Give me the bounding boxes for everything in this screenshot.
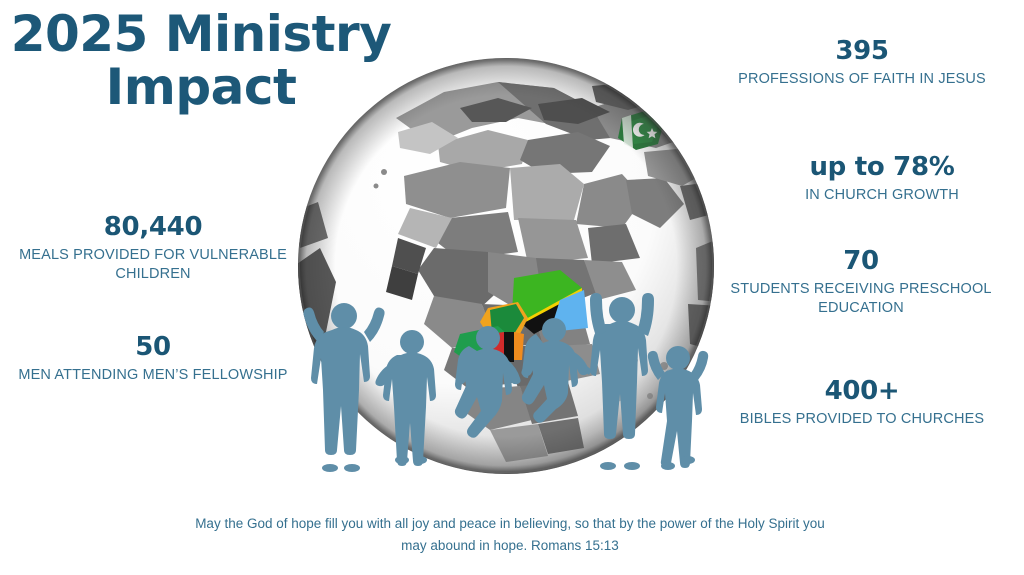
- scripture-verse: May the God of hope fill you with all jo…: [182, 513, 838, 557]
- stat-label: MEALS PROVIDED FOR VULNERABLE CHILDREN: [0, 246, 306, 285]
- stat-preschool-students: 70 STUDENTS RECEIVING PRESCHOOL EDUCATIO…: [698, 246, 1024, 319]
- silhouette-figure-2: [375, 330, 436, 466]
- stat-value: 50: [0, 332, 306, 363]
- silhouette-figure-1: [303, 303, 384, 472]
- stat-label: MEN ATTENDING MEN’S FELLOWSHIP: [0, 366, 306, 386]
- stat-church-growth: up to 78% IN CHURCH GROWTH: [740, 152, 1024, 205]
- stat-professions-of-faith: 395 PROFESSIONS OF FAITH IN JESUS: [700, 36, 1024, 89]
- page-title: 2025 Ministry Impact: [6, 8, 396, 114]
- silhouette-figure-3: [455, 326, 521, 438]
- stat-label: IN CHURCH GROWTH: [740, 186, 1024, 206]
- stat-bibles-provided: 400+ BIBLES PROVIDED TO CHURCHES: [700, 376, 1024, 429]
- silhouette-figure-5: [590, 293, 654, 470]
- stat-label: BIBLES PROVIDED TO CHURCHES: [700, 410, 1024, 430]
- stat-value: 80,440: [0, 212, 306, 243]
- stat-label: PROFESSIONS OF FAITH IN JESUS: [700, 70, 1024, 90]
- stat-value: 70: [698, 246, 1024, 277]
- ministry-impact-infographic: 2025 Ministry Impact 395 PROFESSIONS OF …: [0, 0, 1024, 575]
- page-title-line-2: Impact: [6, 61, 396, 114]
- stat-meals-provided: 80,440 MEALS PROVIDED FOR VULNERABLE CHI…: [0, 212, 306, 285]
- stat-mens-fellowship: 50 MEN ATTENDING MEN’S FELLOWSHIP: [0, 332, 306, 385]
- silhouette-figure-4: [521, 318, 592, 423]
- stat-label: STUDENTS RECEIVING PRESCHOOL EDUCATION: [698, 280, 1024, 319]
- stat-value: 400+: [700, 376, 1024, 407]
- stat-value: up to 78%: [740, 152, 1024, 183]
- celebrating-people-silhouettes: [292, 280, 720, 510]
- page-title-line-1: 2025 Ministry: [6, 8, 396, 61]
- stat-value: 395: [700, 36, 1024, 67]
